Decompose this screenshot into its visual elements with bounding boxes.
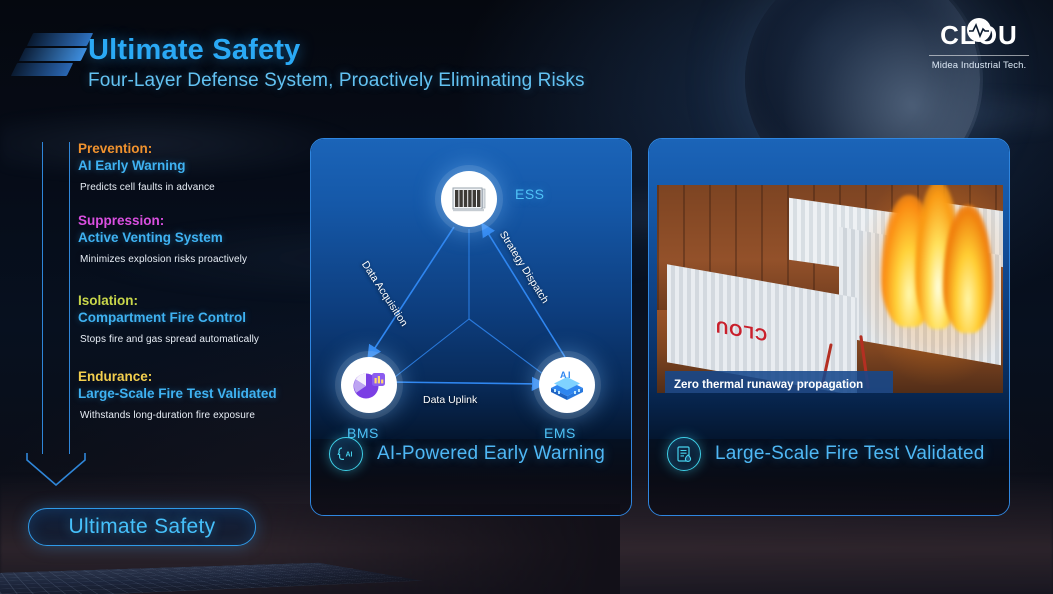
step-desc: Stops fire and gas spread automatically [80,334,293,345]
step-prevention: Prevention: AI Early Warning Predicts ce… [78,140,293,193]
brand-logo: CLOU Midea Industrial Tech. [927,22,1031,71]
step-key: Endurance: [78,368,293,385]
ai-chip-icon: AI [549,369,585,401]
svg-text:AI: AI [346,451,353,458]
down-arrow-shaft [42,142,70,454]
battery-rack-icon [452,186,486,212]
step-isolation: Isolation: Compartment Fire Control Stop… [78,292,293,345]
photo-caption: Zero thermal runaway propagation between… [665,371,893,393]
down-arrow-icon [26,452,86,486]
step-desc: Minimizes explosion risks proactively [80,254,293,265]
node-bms[interactable] [341,357,397,413]
node-ems[interactable]: AI [539,357,595,413]
brand-tagline: Midea Industrial Tech. [927,60,1031,71]
panel-ai-warning: ESS BMS [310,138,632,516]
step-key: Prevention: [78,140,293,157]
fire-report-icon [667,437,701,471]
node-bms-ring [341,357,397,413]
node-ems-ring: AI [539,357,595,413]
firetest-footer-label: Large-Scale Fire Test Validated [715,443,985,465]
svg-text:I: I [568,370,571,380]
brand-pulse-icon [968,22,990,38]
header-logo-mark [14,33,92,81]
diagram-footer-label: AI-Powered Early Warning [377,443,605,465]
step-title: Compartment Fire Control [78,309,293,327]
step-suppression: Suppression: Active Venting System Minim… [78,212,293,265]
fire-test-photo: CLOU Zero thermal runaway propagation be… [657,185,1003,393]
node-ess-label: ESS [515,186,545,202]
page-title: Ultimate Safety [88,34,301,67]
ultimate-safety-pill[interactable]: Ultimate Safety [28,508,256,546]
ai-head-icon: AI [329,437,363,471]
page-subtitle: Four-Layer Defense System, Proactively E… [88,70,585,92]
step-desc: Withstands long-duration fire exposure [80,410,293,421]
step-endurance: Endurance: Large-Scale Fire Test Validat… [78,368,293,421]
step-key: Isolation: [78,292,293,309]
left-steps-column: Prevention: AI Early Warning Predicts ce… [0,130,300,530]
step-title: Large-Scale Fire Test Validated [78,385,293,403]
logo-bar-2 [19,48,87,61]
panel-fire-test: CLOU Zero thermal runaway propagation be… [648,138,1010,516]
step-key: Suppression: [78,212,293,229]
pie-chart-icon [352,370,386,400]
step-title: AI Early Warning [78,157,293,175]
node-ess[interactable] [441,171,497,227]
svg-text:A: A [560,370,567,380]
brand-divider [929,55,1029,56]
logo-bar-1 [27,33,93,46]
diagram-footer: AI AI-Powered Early Warning [329,437,605,471]
step-desc: Predicts cell faults in advance [80,182,293,193]
edge-label-data-uplink: Data Uplink [423,394,477,406]
firetest-footer: Large-Scale Fire Test Validated [667,437,985,471]
step-title: Active Venting System [78,229,293,247]
node-ess-ring [441,171,497,227]
logo-bar-3 [11,63,73,76]
